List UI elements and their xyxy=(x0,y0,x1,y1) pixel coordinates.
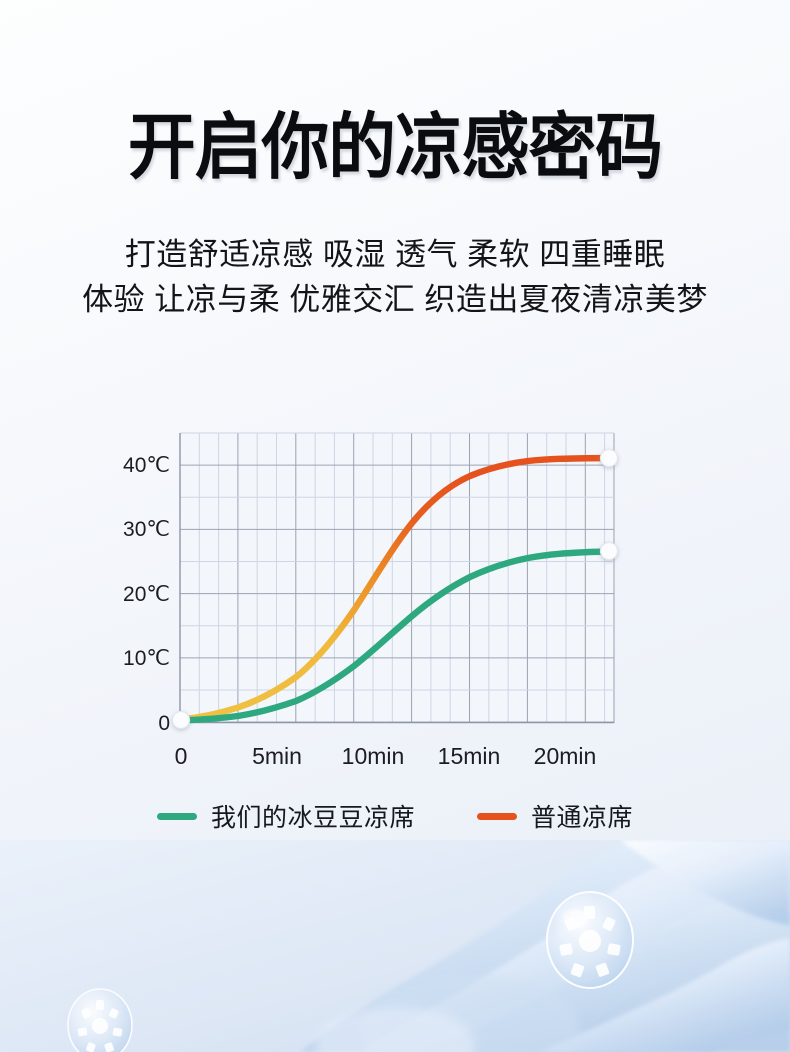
plot-background xyxy=(180,433,614,723)
x-tick-label: 5min xyxy=(252,743,302,769)
x-tick-label: 20min xyxy=(534,743,597,769)
subtitle: 打造舒适凉感 吸湿 透气 柔软 四重睡眠 体验 让凉与柔 优雅交汇 织造出夏夜清… xyxy=(0,232,790,322)
legend-label-ours: 我们的冰豆豆凉席 xyxy=(211,798,415,834)
fabric-illustration xyxy=(0,840,790,1052)
endpoint-marker-ordinary xyxy=(601,450,618,467)
legend-item-ordinary: 普通凉席 xyxy=(477,798,633,834)
y-tick-label: 10℃ xyxy=(123,647,170,670)
x-tick-label: 15min xyxy=(438,743,501,769)
x-tick-label: 0 xyxy=(175,743,188,769)
temperature-chart: 40℃ 30℃ 20℃ 10℃ 0 0 5min 10min 15min 20m… xyxy=(0,420,790,840)
y-tick-label: 40℃ xyxy=(123,454,170,477)
snowflake-bubble-small xyxy=(68,989,132,1052)
legend-line-icon-ordinary xyxy=(477,813,517,820)
x-axis-tick-labels: 0 5min 10min 15min 20min xyxy=(175,743,597,769)
legend-line-icon-ours xyxy=(157,813,197,820)
origin-marker xyxy=(173,712,190,729)
subtitle-line-2: 体验 让凉与柔 优雅交汇 织造出夏夜清凉美梦 xyxy=(0,277,790,322)
y-tick-label: 30℃ xyxy=(123,518,170,541)
fabric-photo xyxy=(0,840,790,1052)
y-tick-label: 0 xyxy=(158,712,170,735)
chart-canvas: 40℃ 30℃ 20℃ 10℃ 0 0 5min 10min 15min 20m… xyxy=(0,420,790,840)
chart-legend: 我们的冰豆豆凉席 普通凉席 xyxy=(0,798,790,834)
legend-label-ordinary: 普通凉席 xyxy=(531,798,633,834)
legend-item-ours: 我们的冰豆豆凉席 xyxy=(157,798,415,834)
x-tick-label: 10min xyxy=(342,743,405,769)
subtitle-line-1: 打造舒适凉感 吸湿 透气 柔软 四重睡眠 xyxy=(0,232,790,277)
promo-page: 开启你的凉感密码 打造舒适凉感 吸湿 透气 柔软 四重睡眠 体验 让凉与柔 优雅… xyxy=(0,0,790,1052)
y-axis-tick-labels: 40℃ 30℃ 20℃ 10℃ 0 xyxy=(123,454,170,735)
snowflake-bubble-large xyxy=(547,892,633,988)
page-title: 开启你的凉感密码 xyxy=(24,108,767,186)
endpoint-marker-ours xyxy=(601,543,618,560)
y-tick-label: 20℃ xyxy=(123,583,170,606)
